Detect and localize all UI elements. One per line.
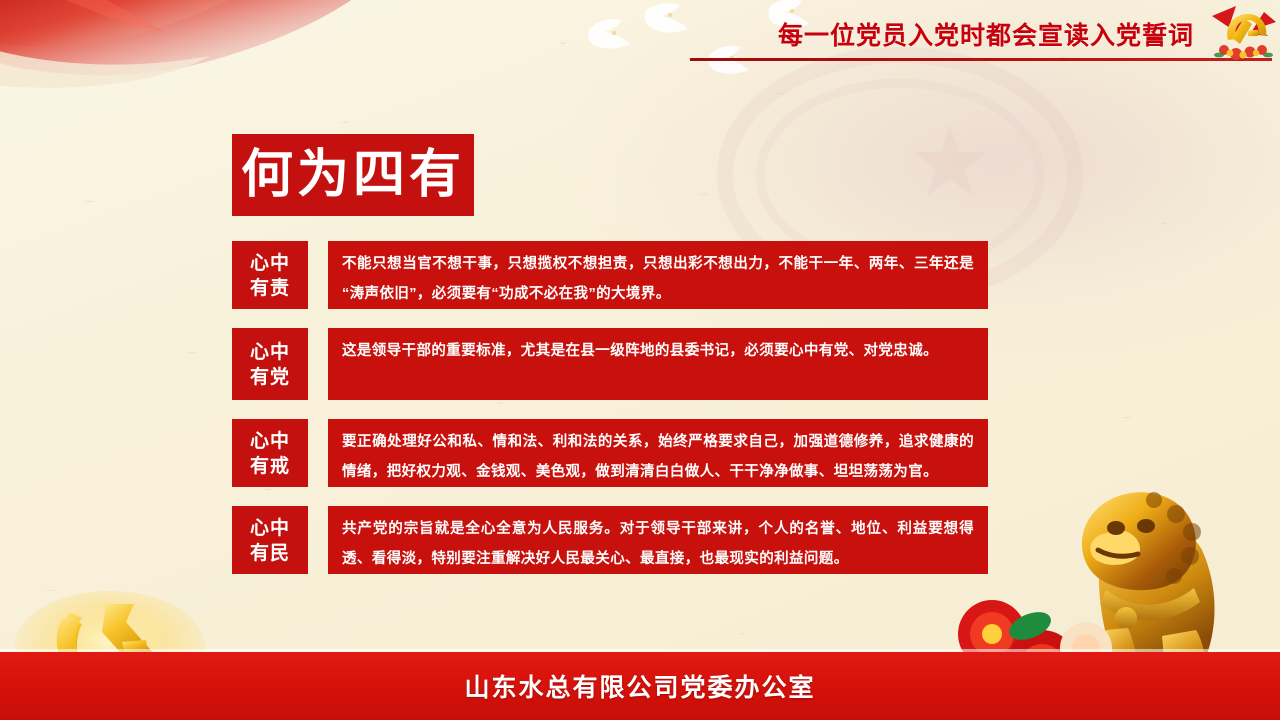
list-item: 心中 有戒 要正确处理好公和私、情和法、利和法的关系，始终严格要求自己，加强道德…	[232, 419, 988, 487]
row-label-xinzhongyoudang: 心中 有党	[232, 328, 308, 400]
footer-title: 山东水总有限公司党委办公室	[464, 668, 815, 704]
header-title: 每一位党员入党时都会宣读入党誓词	[778, 16, 1194, 52]
four-haves-list: 心中 有责 不能只想当官不想干事，只想揽权不想担责，只想出彩不想出力，不能干一年…	[232, 241, 988, 593]
footer-bar: 山东水总有限公司党委办公室	[0, 652, 1280, 720]
row-label-line2: 有党	[232, 365, 308, 390]
list-item: 心中 有民 共产党的宗旨就是全心全意为人民服务。对于领导干部来讲，个人的名誉、地…	[232, 506, 988, 574]
header-bar: 每一位党员入党时都会宣读入党誓词	[690, 8, 1272, 64]
page-title: 何为四有	[241, 149, 465, 201]
row-text-xinzhongyoudang: 这是领导干部的重要标准，尤其是在县一级阵地的县委书记，必须要心中有党、对党忠诚。	[328, 328, 988, 400]
row-label-line2: 有民	[232, 541, 308, 566]
row-text-xinzhongyouze: 不能只想当官不想干事，只想揽权不想担责，只想出彩不想出力，不能干一年、两年、三年…	[328, 241, 988, 309]
list-item: 心中 有责 不能只想当官不想干事，只想揽权不想担责，只想出彩不想出力，不能干一年…	[232, 241, 988, 309]
list-item: 心中 有党 这是领导干部的重要标准，尤其是在县一级阵地的县委书记，必须要心中有党…	[232, 328, 988, 400]
row-label-line2: 有责	[232, 276, 308, 301]
row-label-line1: 心中	[232, 340, 308, 365]
row-label-line1: 心中	[232, 429, 308, 454]
page-title-box: 何为四有	[232, 134, 474, 216]
header-divider	[690, 58, 1272, 61]
row-label-xinzhongyouze: 心中 有责	[232, 241, 308, 309]
party-emblem-badge-icon	[1206, 0, 1280, 64]
slide-root: 每一位党员入党时都会宣读入党誓词	[0, 0, 1280, 720]
row-text-xinzhongyoumin: 共产党的宗旨就是全心全意为人民服务。对于领导干部来讲，个人的名誉、地位、利益要想…	[328, 506, 988, 574]
row-text-xinzhongyoujie: 要正确处理好公和私、情和法、利和法的关系，始终严格要求自己，加强道德修养，追求健…	[328, 419, 988, 487]
row-label-xinzhongyoumin: 心中 有民	[232, 506, 308, 574]
row-label-line1: 心中	[232, 516, 308, 541]
row-label-xinzhongyoujie: 心中 有戒	[232, 419, 308, 487]
row-label-line2: 有戒	[232, 454, 308, 479]
row-label-line1: 心中	[232, 251, 308, 276]
red-flag-icon	[0, 0, 420, 150]
